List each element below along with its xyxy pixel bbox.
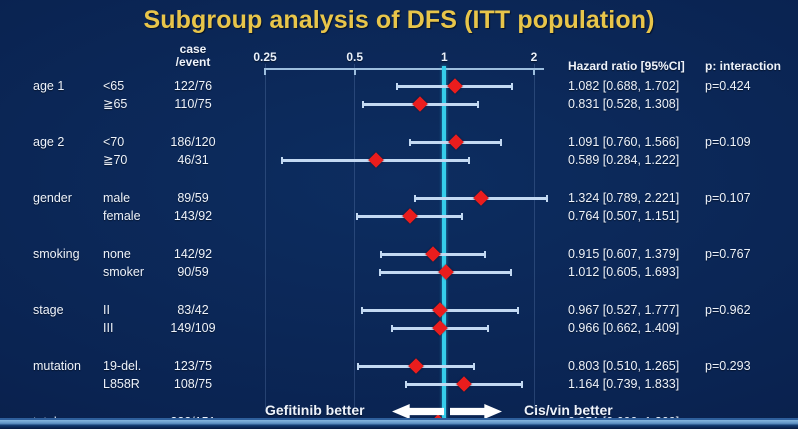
confidence-interval-cap <box>521 381 523 388</box>
confidence-interval-cap <box>414 195 416 202</box>
gridline-2 <box>534 64 535 412</box>
group-label-stage: stage <box>33 304 64 317</box>
hazard-ratio-value: 1.164 [0.739, 1.833] <box>568 378 679 391</box>
point-estimate-marker <box>473 190 489 206</box>
hazard-ratio-value: 0.966 [0.662, 1.409] <box>568 322 679 335</box>
axis-tick-label-0.5: 0.5 <box>346 50 363 64</box>
case-event-value: 110/75 <box>158 98 228 111</box>
case-event-value: 108/75 <box>158 378 228 391</box>
point-estimate-marker <box>425 246 441 262</box>
case-event-value: 89/59 <box>158 192 228 205</box>
p-interaction-value: p=0.767 <box>705 248 751 261</box>
p-interaction-value: p=0.109 <box>705 136 751 149</box>
gridline-0.5 <box>354 64 355 412</box>
subgroup-level-label: L858R <box>103 378 140 391</box>
confidence-interval-cap <box>461 213 463 220</box>
p-interaction-value: p=0.107 <box>705 192 751 205</box>
group-label-mutation: mutation <box>33 360 81 373</box>
confidence-interval-cap <box>361 307 363 314</box>
column-header-hazard-ratio: Hazard ratio [95%CI] <box>568 60 685 73</box>
p-interaction-value: p=0.962 <box>705 304 751 317</box>
confidence-interval-cap <box>546 195 548 202</box>
point-estimate-marker <box>447 78 463 94</box>
arrow-left-icon <box>392 404 444 419</box>
subgroup-level-label: 19-del. <box>103 360 141 373</box>
group-label-age-2: age 2 <box>33 136 64 149</box>
hazard-ratio-value: 1.091 [0.760, 1.566] <box>568 136 679 149</box>
subgroup-level-label: <70 <box>103 136 124 149</box>
forest-plot: 0.250.512 <box>255 50 555 412</box>
confidence-interval-cap <box>396 83 398 90</box>
p-interaction-value: p=0.424 <box>705 80 751 93</box>
case-event-value: 123/75 <box>158 360 228 373</box>
point-estimate-marker <box>438 264 454 280</box>
case-event-value: 142/92 <box>158 248 228 261</box>
hazard-ratio-value: 0.831 [0.528, 1.308] <box>568 98 679 111</box>
confidence-interval-cap <box>477 101 479 108</box>
case-event-value: 122/76 <box>158 80 228 93</box>
axis-tick-0.5 <box>354 68 356 75</box>
confidence-interval-cap <box>380 251 382 258</box>
axis-tick-label-1: 1 <box>441 50 448 64</box>
subgroup-level-label: none <box>103 248 131 261</box>
confidence-interval-cap <box>473 363 475 370</box>
point-estimate-marker <box>413 96 429 112</box>
subgroup-level-label: II <box>103 304 110 317</box>
axis-tick-0.25 <box>264 68 266 75</box>
subgroup-level-label: smoker <box>103 266 144 279</box>
arrow-right-icon <box>450 404 502 419</box>
legend-left-label: Gefitinib better <box>265 404 365 417</box>
confidence-interval-cap <box>500 139 502 146</box>
confidence-interval-cap <box>409 139 411 146</box>
case-event-value: 149/109 <box>158 322 228 335</box>
page-title: Subgroup analysis of DFS (ITT population… <box>0 6 798 35</box>
hazard-ratio-value: 0.915 [0.607, 1.379] <box>568 248 679 261</box>
subgroup-level-label: ≧​65 <box>103 98 127 111</box>
column-header-p-interaction: p: interaction <box>705 60 781 73</box>
point-estimate-marker <box>368 152 384 168</box>
subgroup-level-label: <65 <box>103 80 124 93</box>
confidence-interval-cap <box>362 101 364 108</box>
hazard-ratio-value: 1.082 [0.688, 1.702] <box>568 80 679 93</box>
confidence-interval-cap <box>468 157 470 164</box>
subgroup-level-label: male <box>103 192 130 205</box>
gridline-0.25 <box>265 64 266 412</box>
group-label-gender: gender <box>33 192 72 205</box>
null-reference-line <box>442 66 446 429</box>
group-label-age-1: age 1 <box>33 80 64 93</box>
group-label-smoking: smoking <box>33 248 80 261</box>
hazard-ratio-value: 0.589 [0.284, 1.222] <box>568 154 679 167</box>
hazard-ratio-value: 0.967 [0.527, 1.777] <box>568 304 679 317</box>
subgroup-level-label: female <box>103 210 141 223</box>
point-estimate-marker <box>448 134 464 150</box>
case-event-value: 143/92 <box>158 210 228 223</box>
confidence-interval-cap <box>405 381 407 388</box>
confidence-interval-cap <box>357 363 359 370</box>
axis-tick-label-0.25: 0.25 <box>253 50 276 64</box>
case-event-value: 83/42 <box>158 304 228 317</box>
confidence-interval-cap <box>487 325 489 332</box>
hazard-ratio-value: 0.803 [0.510, 1.265] <box>568 360 679 373</box>
hazard-ratio-value: 1.324 [0.789, 2.221] <box>568 192 679 205</box>
confidence-interval-cap <box>484 251 486 258</box>
case-event-value: 90/59 <box>158 266 228 279</box>
axis-line <box>265 68 544 70</box>
confidence-interval-cap <box>379 269 381 276</box>
case-event-value: 186/120 <box>158 136 228 149</box>
axis-tick-2 <box>533 68 535 75</box>
subgroup-level-label: ≧​70 <box>103 154 127 167</box>
point-estimate-marker <box>408 358 424 374</box>
hazard-ratio-value: 1.012 [0.605, 1.693] <box>568 266 679 279</box>
column-header-event: /event <box>158 56 228 69</box>
slide-canvas: Subgroup analysis of DFS (ITT population… <box>0 0 798 429</box>
footer-bar <box>0 420 798 429</box>
legend-right-label: Cis/vin better <box>524 404 613 417</box>
confidence-interval-cap <box>391 325 393 332</box>
confidence-interval-cap <box>356 213 358 220</box>
axis-tick-label-2: 2 <box>531 50 538 64</box>
confidence-interval-cap <box>511 83 513 90</box>
hazard-ratio-value: 0.764 [0.507, 1.151] <box>568 210 679 223</box>
case-event-value: 46/31 <box>158 154 228 167</box>
point-estimate-marker <box>456 376 472 392</box>
p-interaction-value: p=0.293 <box>705 360 751 373</box>
confidence-interval-cap <box>281 157 283 164</box>
point-estimate-marker <box>402 208 418 224</box>
subgroup-level-label: III <box>103 322 113 335</box>
confidence-interval-cap <box>510 269 512 276</box>
confidence-interval-cap <box>517 307 519 314</box>
